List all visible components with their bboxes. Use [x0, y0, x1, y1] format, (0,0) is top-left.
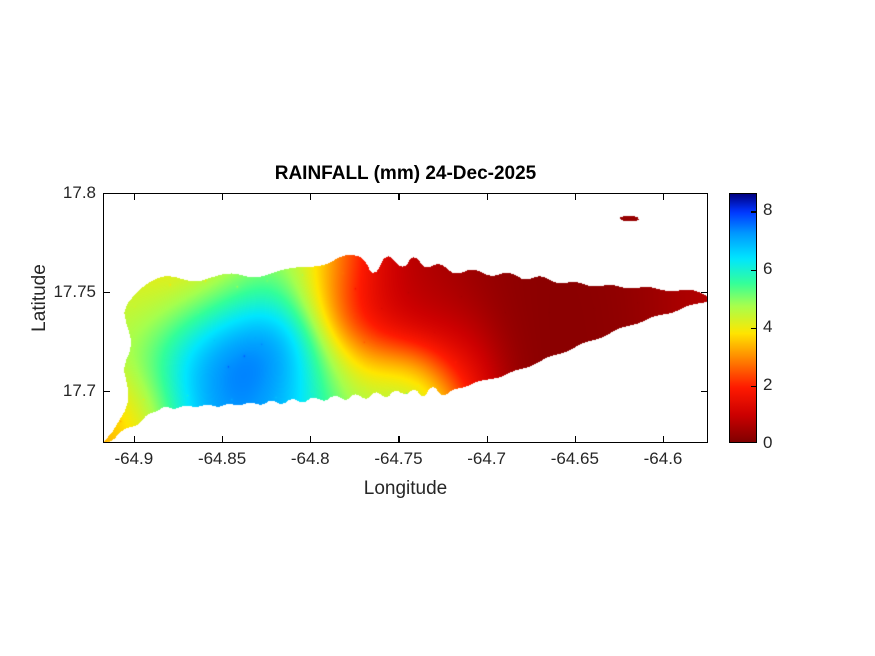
y-tick-label: 17.75 — [53, 282, 96, 302]
y-tick — [701, 193, 708, 194]
y-tick — [701, 391, 708, 392]
x-tick-label: -64.9 — [114, 449, 153, 469]
x-tick — [310, 436, 311, 443]
x-tick-label: -64.6 — [644, 449, 683, 469]
x-tick — [134, 436, 135, 443]
colorbar — [729, 193, 757, 443]
x-tick — [222, 193, 223, 200]
page-title: RAINFALL (mm) 24-Dec-2025 — [103, 163, 708, 185]
x-tick — [575, 436, 576, 443]
x-tick — [663, 193, 664, 200]
colorbar-tick-label: 8 — [763, 200, 772, 220]
figure-canvas: RAINFALL (mm) 24-Dec-2025 -64.9-64.85-64… — [0, 0, 875, 656]
rainfall-heatmap — [104, 194, 708, 443]
x-tick-label: -64.8 — [291, 449, 330, 469]
x-tick — [575, 193, 576, 200]
x-tick-label: -64.7 — [467, 449, 506, 469]
x-tick — [487, 193, 488, 200]
colorbar-tick — [751, 386, 756, 387]
y-tick-label: 17.7 — [63, 381, 96, 401]
y-tick — [103, 391, 110, 392]
colorbar-tick-label: 0 — [763, 433, 772, 453]
x-tick — [487, 436, 488, 443]
y-tick — [103, 193, 110, 194]
colorbar-tick — [751, 270, 756, 271]
map-axes — [103, 193, 708, 443]
colorbar-tick-label: 6 — [763, 259, 772, 279]
x-axis-label: Longitude — [103, 478, 708, 500]
x-tick — [663, 436, 664, 443]
x-tick — [222, 436, 223, 443]
colorbar-tick — [751, 328, 756, 329]
x-tick — [310, 193, 311, 200]
y-axis-label: Latitude — [29, 198, 51, 398]
x-tick-label: -64.65 — [551, 449, 599, 469]
x-tick-label: -64.75 — [374, 449, 422, 469]
colorbar-tick — [751, 211, 756, 212]
colorbar-gradient — [730, 194, 756, 442]
colorbar-tick-label: 2 — [763, 375, 772, 395]
y-tick — [103, 292, 110, 293]
colorbar-tick-label: 4 — [763, 317, 772, 337]
x-tick — [398, 193, 399, 200]
x-tick-label: -64.85 — [198, 449, 246, 469]
x-tick — [134, 193, 135, 200]
y-tick — [701, 292, 708, 293]
x-tick — [398, 436, 399, 443]
y-tick-label: 17.8 — [63, 183, 96, 203]
